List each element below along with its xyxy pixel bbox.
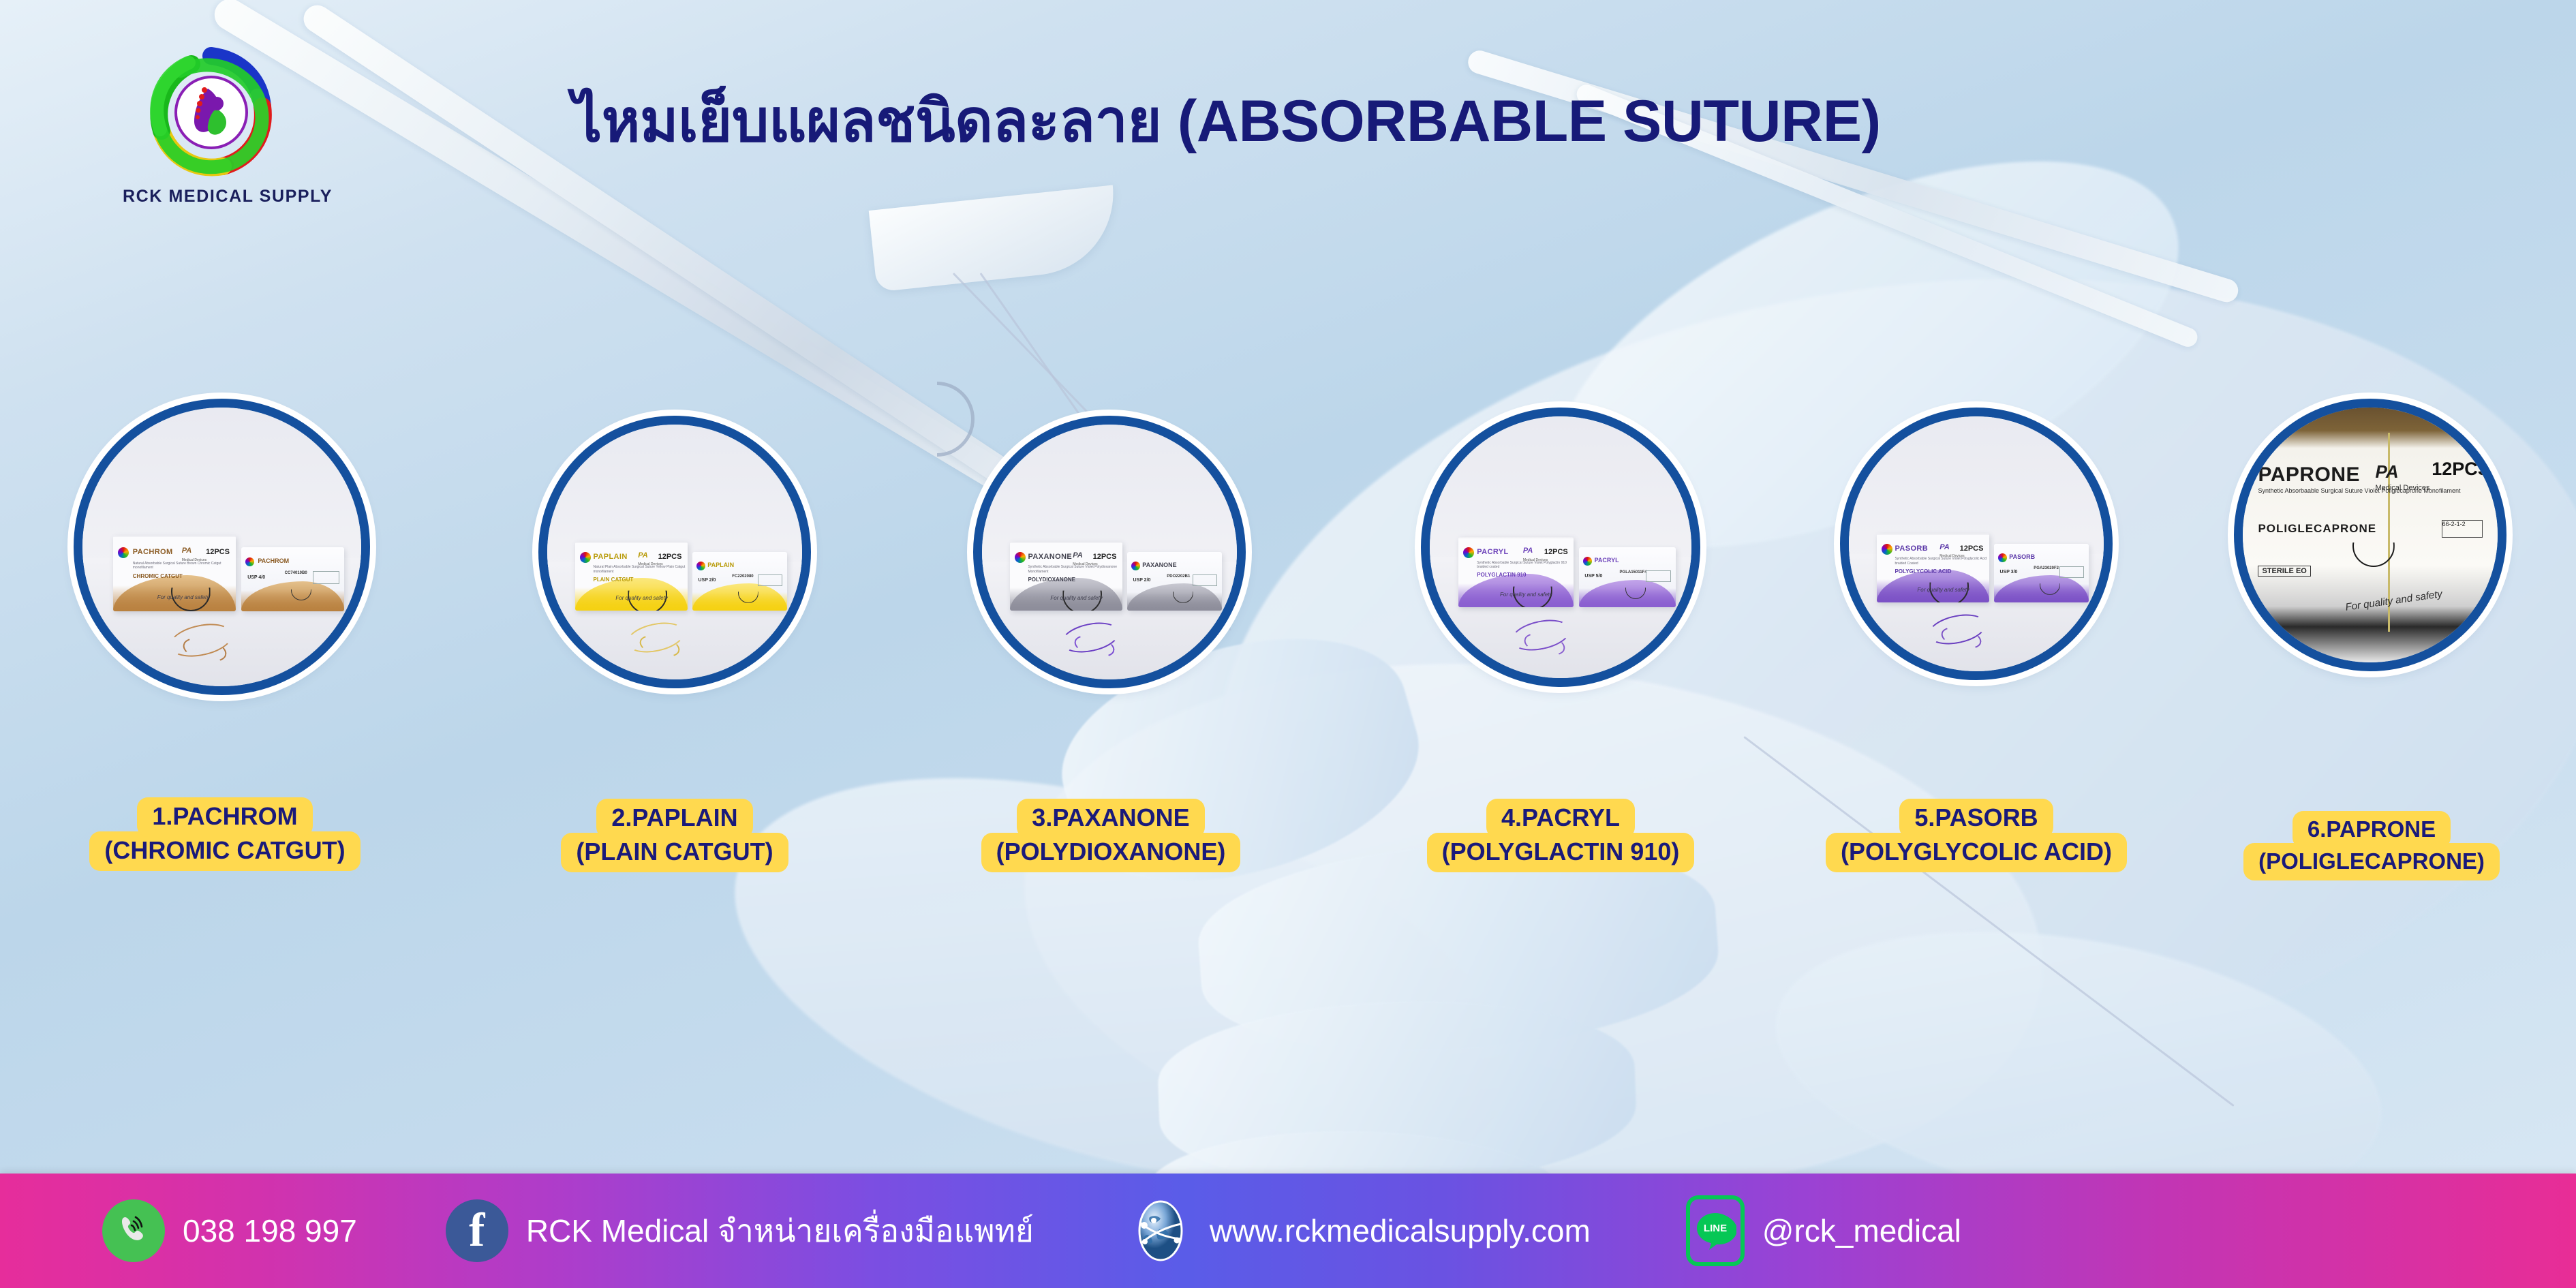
- box-pa-mark: PA: [1523, 547, 1533, 555]
- product-circle-3[interactable]: PAXANONE Synthetic Absorbable Surgical S…: [973, 416, 1246, 688]
- box-pcs: 12PCS: [658, 553, 682, 561]
- product-box: PAXANONE Synthetic Absorbable Surgical S…: [1010, 542, 1122, 611]
- box-desc: Synthetic Absorbable Surgical Suture Vio…: [1477, 561, 1574, 570]
- box-pa-sub: Medical Devices: [1073, 562, 1097, 566]
- footer-line[interactable]: LINE @rck_medical: [1686, 1195, 1961, 1266]
- box-pa-mark: PA: [182, 547, 191, 555]
- background-image: [0, 0, 2576, 1288]
- sachet-usp: USP 2/0: [698, 578, 716, 583]
- facebook-icon: f: [446, 1199, 508, 1262]
- product-photo: PACHROM Natural Absorbable Surgical Sutu…: [82, 408, 361, 686]
- box-pcs: 12PCS: [206, 548, 230, 556]
- box-pa-sub: Medical Devices: [182, 558, 206, 562]
- label-line1: 5.PASORB: [1899, 799, 2053, 838]
- photo-script: For quality and safety: [2344, 588, 2442, 613]
- sachet-usp: USP 2/0: [1133, 578, 1150, 583]
- phone-number: 038 198 997: [183, 1212, 357, 1249]
- box-brand: PACRYL: [1477, 548, 1508, 556]
- product-circle-6[interactable]: PAPRONE Synthetic Absorbaable Surgical S…: [2234, 399, 2506, 671]
- label-line1: 2.PAPLAIN: [596, 799, 752, 838]
- sachet-usp: USP 4/0: [247, 575, 265, 580]
- contact-footer: 038 198 997 f RCK Medical จำหน่ายเครื่อง…: [0, 1174, 2576, 1288]
- sachet-code: CC74010B0: [285, 571, 307, 575]
- product-sachet: PASORB USP 3/0 PGA23020F2: [1994, 544, 2088, 602]
- sachet-usp: USP 5/0: [1584, 574, 1602, 579]
- page-title: ไหมเย็บแผลชนิดละลาย (ABSORBABLE SUTURE): [572, 89, 2004, 154]
- sachet-brand: PACHROM: [258, 557, 289, 564]
- product-photo: PAXANONE Synthetic Absorbable Surgical S…: [982, 425, 1237, 679]
- box-brand: PACHROM: [133, 548, 173, 556]
- product-label-2: 2.PAPLAIN (PLAIN CATGUT): [504, 799, 845, 872]
- phone-icon: [102, 1199, 165, 1262]
- website-url: www.rckmedicalsupply.com: [1210, 1212, 1591, 1249]
- box-script: For quality and safety: [1917, 587, 1969, 593]
- box-generic: CHROMIC CATGUT: [133, 573, 183, 579]
- box-script: For quality and safety: [157, 594, 209, 600]
- product-box: PASORB Synthetic Absorbable Surgical Sut…: [1877, 534, 1989, 602]
- sachet-brand: PAPLAIN: [707, 562, 734, 568]
- line-id: @rck_medical: [1762, 1212, 1961, 1249]
- box-script: For quality and safety: [1050, 595, 1102, 601]
- product-label-1: 1.PACHROM (CHROMIC CATGUT): [41, 797, 409, 871]
- sachet-code: PGLA15011F4: [1620, 570, 1647, 574]
- photo-brand: PAPRONE: [2258, 463, 2360, 487]
- product-label-3: 3.PAXANONE (POLYDIOXANONE): [934, 799, 1288, 872]
- box-script: For quality and safety: [615, 595, 667, 601]
- box-pcs: 12PCS: [1960, 545, 1984, 553]
- box-pa-mark: PA: [1073, 551, 1082, 559]
- label-line2: (CHROMIC CATGUT): [89, 831, 360, 871]
- box-script: For quality and safety: [1500, 592, 1552, 598]
- product-photo: PAPRONE Synthetic Absorbaable Surgical S…: [2243, 408, 2498, 662]
- label-line2: (POLYGLYCOLIC ACID): [1826, 833, 2127, 872]
- product-box: PACHROM Natural Absorbable Surgical Sutu…: [113, 536, 236, 611]
- product-sachet: PACHROM USP 4/0 CC74010B0: [241, 547, 344, 611]
- sachet-code: PDO2202B1: [1167, 574, 1190, 579]
- forceps-jaw: [869, 185, 1122, 292]
- photo-pcs: 12PCS: [2432, 459, 2490, 480]
- product-photo: PACRYL Synthetic Absorbable Surgical Sut…: [1430, 416, 1691, 678]
- box-pcs: 12PCS: [1093, 553, 1117, 561]
- globe-icon: [1129, 1199, 1192, 1262]
- product-label-6: 6.PAPRONE (POLIGLECAPRONE): [2201, 811, 2542, 880]
- box-pa-mark: PA: [638, 551, 647, 559]
- box-brand: PAXANONE: [1028, 553, 1072, 561]
- logo-text: RCK MEDICAL SUPPLY: [123, 187, 300, 206]
- label-line2: (POLYDIOXANONE): [981, 833, 1241, 872]
- company-logo: RCK MEDICAL SUPPLY: [123, 41, 300, 206]
- product-label-4: 4.PACRYL (POLYGLACTIN 910): [1377, 799, 1745, 872]
- facebook-page-name: RCK Medical จำหน่ายเครื่องมือแพทย์: [526, 1206, 1034, 1256]
- product-sachet: PAXANONE USP 2/0 PDO2202B1: [1127, 552, 1221, 611]
- sachet-brand: PASORB: [2009, 553, 2035, 560]
- product-circle-1[interactable]: PACHROM Natural Absorbable Surgical Sutu…: [74, 399, 370, 695]
- box-generic: POLYGLYCOLIC ACID: [1895, 568, 1951, 574]
- box-brand: PAPLAIN: [593, 553, 627, 561]
- product-photo: PASORB Synthetic Absorbable Surgical Sut…: [1849, 416, 2104, 671]
- box-pa-sub: Medical Devices: [1523, 558, 1548, 562]
- photo-lot-code: 66-2-1-2: [2442, 520, 2483, 538]
- box-generic: POLYGLACTIN 910: [1477, 572, 1526, 578]
- product-box: PAPLAIN Natural Plain Absorbable Surgica…: [575, 542, 688, 611]
- sachet-brand: PAXANONE: [1142, 562, 1176, 568]
- sachet-code: FC2202080: [732, 574, 753, 579]
- product-box: PACRYL Synthetic Absorbable Surgical Sut…: [1458, 537, 1574, 608]
- label-line2: (POLIGLECAPRONE): [2243, 843, 2500, 880]
- sachet-code: PGA23020F2: [2034, 566, 2059, 570]
- box-pa-mark: PA: [1939, 543, 1949, 551]
- box-desc: Natural Absorbable Surgical Suture Brown…: [133, 562, 236, 570]
- line-icon: LINE: [1686, 1195, 1745, 1266]
- product-label-5: 5.PASORB (POLYGLYCOLIC ACID): [1785, 799, 2167, 872]
- label-line1: 6.PAPRONE: [2293, 811, 2451, 848]
- label-line2: (POLYGLACTIN 910): [1427, 833, 1695, 872]
- label-line1: 4.PACRYL: [1486, 799, 1635, 838]
- photo-generic: POLIGLECAPRONE: [2258, 522, 2376, 536]
- product-sachet: PAPLAIN USP 2/0 FC2202080: [692, 552, 786, 611]
- box-generic: POLYDIOXANONE: [1028, 577, 1075, 583]
- rck-flower-logo-icon: [140, 41, 283, 184]
- box-pcs: 12PCS: [1544, 548, 1568, 556]
- product-circle-4[interactable]: PACRYL Synthetic Absorbable Surgical Sut…: [1421, 408, 1700, 687]
- product-circle-5[interactable]: PASORB Synthetic Absorbable Surgical Sut…: [1840, 408, 2113, 680]
- product-photo: PAPLAIN Natural Plain Absorbable Surgica…: [547, 425, 802, 679]
- footer-facebook[interactable]: f RCK Medical จำหน่ายเครื่องมือแพทย์: [446, 1199, 1034, 1262]
- box-brand: PASORB: [1895, 545, 1928, 553]
- box-generic: PLAIN CATGUT: [593, 577, 633, 583]
- footer-phone[interactable]: 038 198 997: [102, 1199, 357, 1262]
- label-line1: 1.PACHROM: [137, 797, 312, 837]
- photo-sterile: STERILE EO: [2258, 566, 2310, 577]
- product-circle-2[interactable]: PAPLAIN Natural Plain Absorbable Surgica…: [538, 416, 811, 688]
- svg-text:LINE: LINE: [1704, 1223, 1727, 1234]
- product-sachet: PACRYL USP 5/0 PGLA15011F4: [1579, 547, 1676, 607]
- footer-website[interactable]: www.rckmedicalsupply.com: [1129, 1199, 1591, 1262]
- box-pa-sub: Medical Devices: [638, 562, 662, 566]
- box-pa-sub: Medical Devices: [1939, 554, 1964, 558]
- label-line2: (PLAIN CATGUT): [561, 833, 788, 872]
- label-line1: 3.PAXANONE: [1017, 799, 1204, 838]
- photo-pa-mark: PA: [2375, 461, 2398, 482]
- sachet-brand: PACRYL: [1595, 557, 1619, 564]
- photo-pa-sub: Medical Devices: [2375, 484, 2429, 492]
- sachet-usp: USP 3/0: [1999, 570, 2017, 574]
